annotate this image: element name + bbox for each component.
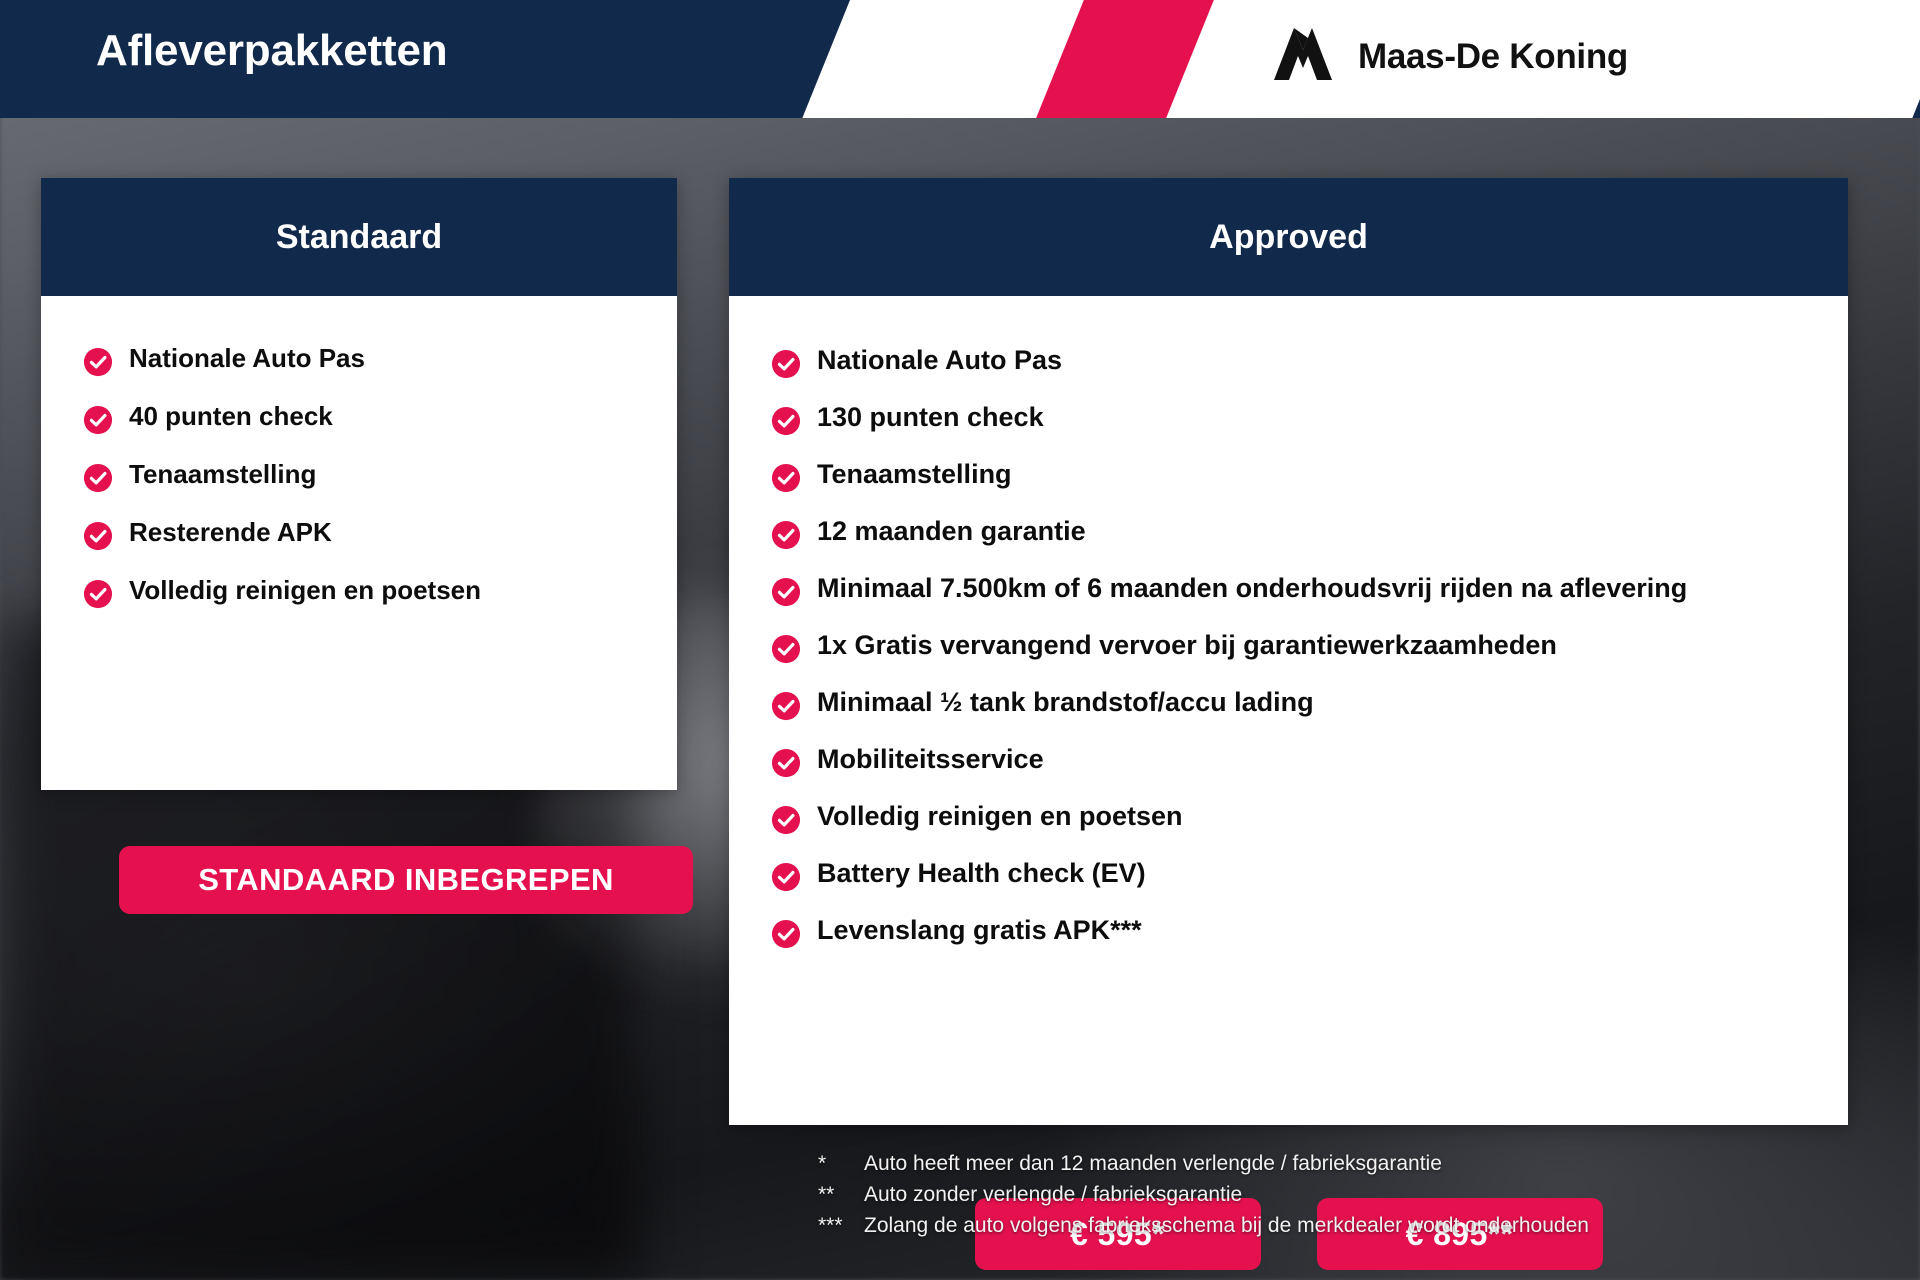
footnote-text: Auto zonder verlengde / fabrieksgarantie bbox=[864, 1179, 1242, 1210]
feature-label: Tenaamstelling bbox=[129, 454, 316, 495]
feature-item: Mobiliteitsservice bbox=[771, 737, 1848, 783]
package-card-approved: Approved Nationale Auto Pas130 punten ch… bbox=[729, 178, 1848, 1125]
feature-label: Resterende APK bbox=[129, 512, 332, 553]
footnote-item: ***Zolang de auto volgens fabrieksschema… bbox=[818, 1210, 1818, 1241]
check-circle-icon bbox=[771, 520, 801, 555]
footnote-marker: *** bbox=[818, 1210, 864, 1241]
footnote-item: **Auto zonder verlengde / fabrieksgarant… bbox=[818, 1179, 1818, 1210]
feature-label: Nationale Auto Pas bbox=[129, 338, 365, 379]
package-title-standaard: Standaard bbox=[41, 178, 677, 296]
feature-label: Minimaal ½ tank brandstof/accu lading bbox=[817, 680, 1314, 724]
feature-list-standaard: Nationale Auto Pas40 punten checkTenaams… bbox=[83, 338, 677, 614]
package-body-standaard: Nationale Auto Pas40 punten checkTenaams… bbox=[41, 338, 677, 614]
feature-item: Resterende APK bbox=[83, 512, 677, 556]
package-card-standaard: Standaard Nationale Auto Pas40 punten ch… bbox=[41, 178, 677, 790]
feature-item: Volledig reinigen en poetsen bbox=[83, 570, 677, 614]
feature-label: Volledig reinigen en poetsen bbox=[129, 570, 481, 611]
check-circle-icon bbox=[771, 919, 801, 954]
feature-item: 1x Gratis vervangend vervoer bij garanti… bbox=[771, 623, 1848, 669]
brand-name: Maas-De Koning bbox=[1358, 37, 1628, 77]
footnote-list: *Auto heeft meer dan 12 maanden verlengd… bbox=[818, 1148, 1818, 1241]
footnote-item: *Auto heeft meer dan 12 maanden verlengd… bbox=[818, 1148, 1818, 1179]
check-circle-icon bbox=[83, 405, 113, 440]
feature-label: 40 punten check bbox=[129, 396, 333, 437]
feature-label: Levenslang gratis APK*** bbox=[817, 908, 1142, 952]
check-circle-icon bbox=[771, 748, 801, 783]
check-circle-icon bbox=[83, 579, 113, 614]
footnote-text: Zolang de auto volgens fabrieksschema bi… bbox=[864, 1210, 1589, 1241]
feature-label: 1x Gratis vervangend vervoer bij garanti… bbox=[817, 623, 1557, 667]
page-title: Afleverpakketten bbox=[96, 26, 447, 76]
package-title-approved: Approved bbox=[729, 178, 1848, 296]
check-circle-icon bbox=[771, 406, 801, 441]
brand-logo: Maas-De Koning bbox=[1270, 26, 1628, 87]
footnote-marker: * bbox=[818, 1148, 864, 1179]
footnote-marker: ** bbox=[818, 1179, 864, 1210]
feature-item: Minimaal 7.500km of 6 maanden onderhouds… bbox=[771, 566, 1848, 612]
feature-label: Nationale Auto Pas bbox=[817, 338, 1062, 382]
check-circle-icon bbox=[771, 862, 801, 897]
check-circle-icon bbox=[771, 577, 801, 612]
check-circle-icon bbox=[771, 349, 801, 384]
check-circle-icon bbox=[83, 463, 113, 498]
check-circle-icon bbox=[771, 463, 801, 498]
feature-label: 130 punten check bbox=[817, 395, 1044, 439]
feature-item: 12 maanden garantie bbox=[771, 509, 1848, 555]
standaard-inbegrepen-button[interactable]: STANDAARD INBEGREPEN bbox=[119, 846, 693, 914]
feature-item: 130 punten check bbox=[771, 395, 1848, 441]
feature-label: Minimaal 7.500km of 6 maanden onderhouds… bbox=[817, 566, 1687, 610]
package-body-approved: Nationale Auto Pas130 punten checkTenaam… bbox=[729, 338, 1848, 954]
feature-item: Levenslang gratis APK*** bbox=[771, 908, 1848, 954]
feature-label: Tenaamstelling bbox=[817, 452, 1012, 496]
feature-item: Tenaamstelling bbox=[771, 452, 1848, 498]
footnote-text: Auto heeft meer dan 12 maanden verlengde… bbox=[864, 1148, 1442, 1179]
check-circle-icon bbox=[83, 347, 113, 382]
check-circle-icon bbox=[771, 805, 801, 840]
check-circle-icon bbox=[771, 691, 801, 726]
feature-item: Nationale Auto Pas bbox=[83, 338, 677, 382]
maas-de-koning-m-icon bbox=[1270, 26, 1336, 87]
feature-label: 12 maanden garantie bbox=[817, 509, 1086, 553]
feature-label: Volledig reinigen en poetsen bbox=[817, 794, 1183, 838]
feature-item: Nationale Auto Pas bbox=[771, 338, 1848, 384]
feature-item: 40 punten check bbox=[83, 396, 677, 440]
check-circle-icon bbox=[771, 634, 801, 669]
feature-item: Minimaal ½ tank brandstof/accu lading bbox=[771, 680, 1848, 726]
feature-label: Battery Health check (EV) bbox=[817, 851, 1146, 895]
feature-label: Mobiliteitsservice bbox=[817, 737, 1044, 781]
feature-item: Volledig reinigen en poetsen bbox=[771, 794, 1848, 840]
feature-list-approved: Nationale Auto Pas130 punten checkTenaam… bbox=[771, 338, 1848, 954]
poster-canvas: Afleverpakketten Maas-De Koning Standaar… bbox=[0, 0, 1920, 1280]
feature-item: Tenaamstelling bbox=[83, 454, 677, 498]
header-bar: Afleverpakketten Maas-De Koning bbox=[0, 0, 1920, 118]
check-circle-icon bbox=[83, 521, 113, 556]
feature-item: Battery Health check (EV) bbox=[771, 851, 1848, 897]
